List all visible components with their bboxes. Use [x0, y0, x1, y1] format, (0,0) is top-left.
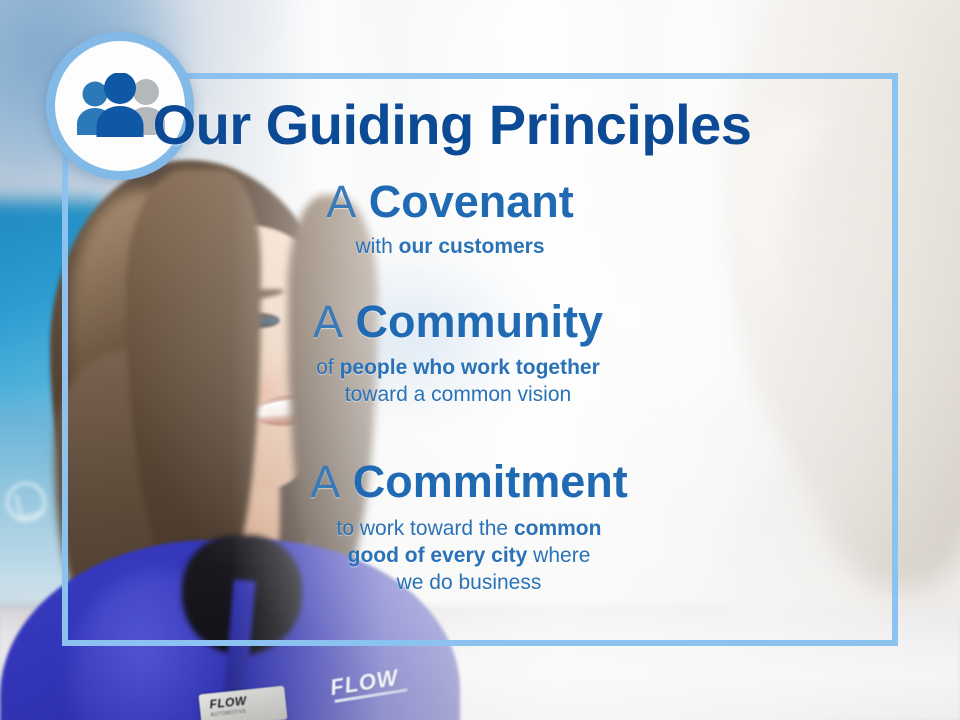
page-title: Our Guiding Principles — [0, 92, 904, 157]
subtext-line: with our customers — [0, 234, 900, 261]
principle-lead-3: A — [310, 456, 340, 507]
principle-block-community: A Community of people who work togethert… — [0, 298, 916, 409]
principle-heading-3: A Commitment — [0, 458, 938, 505]
principle-subtext-3: to work toward the commongood of every c… — [0, 516, 938, 597]
guiding-principles-banner: FLOW FLOW AUTOMOTIVE — [0, 0, 960, 720]
subtext-line: of people who work together — [0, 355, 916, 382]
principle-word-3: Commitment — [353, 456, 628, 507]
principle-lead-2: A — [313, 296, 343, 347]
principle-heading-1: A Covenant — [0, 178, 900, 225]
principle-block-covenant: A Covenant with our customers — [0, 178, 900, 261]
subtext-line: toward a common vision — [0, 382, 916, 409]
subtext-line: good of every city where — [0, 543, 938, 570]
principle-subtext-1: with our customers — [0, 234, 900, 261]
principle-heading-2: A Community — [0, 298, 916, 345]
principle-word-2: Community — [356, 296, 604, 347]
subtext-line: we do business — [0, 570, 938, 597]
subtext-line: to work toward the common — [0, 516, 938, 543]
principle-subtext-2: of people who work togethertoward a comm… — [0, 355, 916, 409]
principle-word-1: Covenant — [369, 176, 574, 227]
principle-lead-1: A — [326, 176, 356, 227]
principle-block-commitment: A Commitment to work toward the commongo… — [0, 458, 938, 597]
